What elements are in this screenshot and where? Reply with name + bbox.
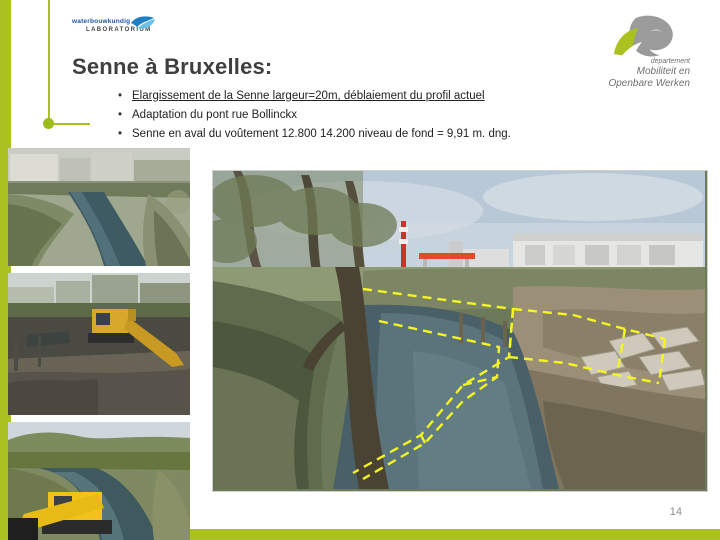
waterbouwkundig-logo-name: waterbouwkundig — [72, 18, 130, 26]
photo-excavator-riverbank-works — [8, 273, 190, 415]
bullet-text: Adaptation du pont rue Bollinckx — [132, 109, 297, 121]
bullet-text: Senne en aval du voûtement 12.800 14.200… — [132, 128, 511, 140]
department-logo: departement Mobiliteit en Openbare Werke… — [572, 14, 692, 92]
department-logo-line1: departement — [570, 58, 690, 65]
water-swoosh-icon — [130, 14, 156, 30]
slide: waterbouwkundig LABORATORIUM departement… — [0, 0, 720, 540]
page-title: Senne à Bruxelles: — [72, 54, 272, 80]
bullet-marker: • — [118, 125, 122, 143]
photo-senne-widening-profile-overlay — [212, 170, 708, 492]
bullet-text: Elargissement de la Senne largeur=20m, d… — [132, 90, 485, 102]
vertical-rule — [48, 0, 50, 124]
department-logo-line2: Mobiliteit en — [570, 66, 690, 77]
bullet-item: • Adaptation du pont rue Bollinckx — [118, 106, 648, 124]
mow-emblem-icon — [606, 14, 686, 62]
bullet-item: • Senne en aval du voûtement 12.800 14.2… — [118, 125, 648, 143]
bullet-item: • Elargissement de la Senne largeur=20m,… — [118, 87, 648, 105]
photo-senne-canal-buildings — [8, 148, 190, 266]
bullet-marker: • — [118, 87, 122, 105]
waterbouwkundig-logo: waterbouwkundig LABORATORIUM — [72, 14, 160, 44]
horizontal-rule — [48, 123, 90, 125]
accent-dot — [43, 118, 54, 129]
page-number: 14 — [670, 506, 682, 518]
bullet-marker: • — [118, 106, 122, 124]
photo-yellow-excavator-river — [8, 422, 190, 540]
bullet-list: • Elargissement de la Senne largeur=20m,… — [118, 87, 648, 144]
